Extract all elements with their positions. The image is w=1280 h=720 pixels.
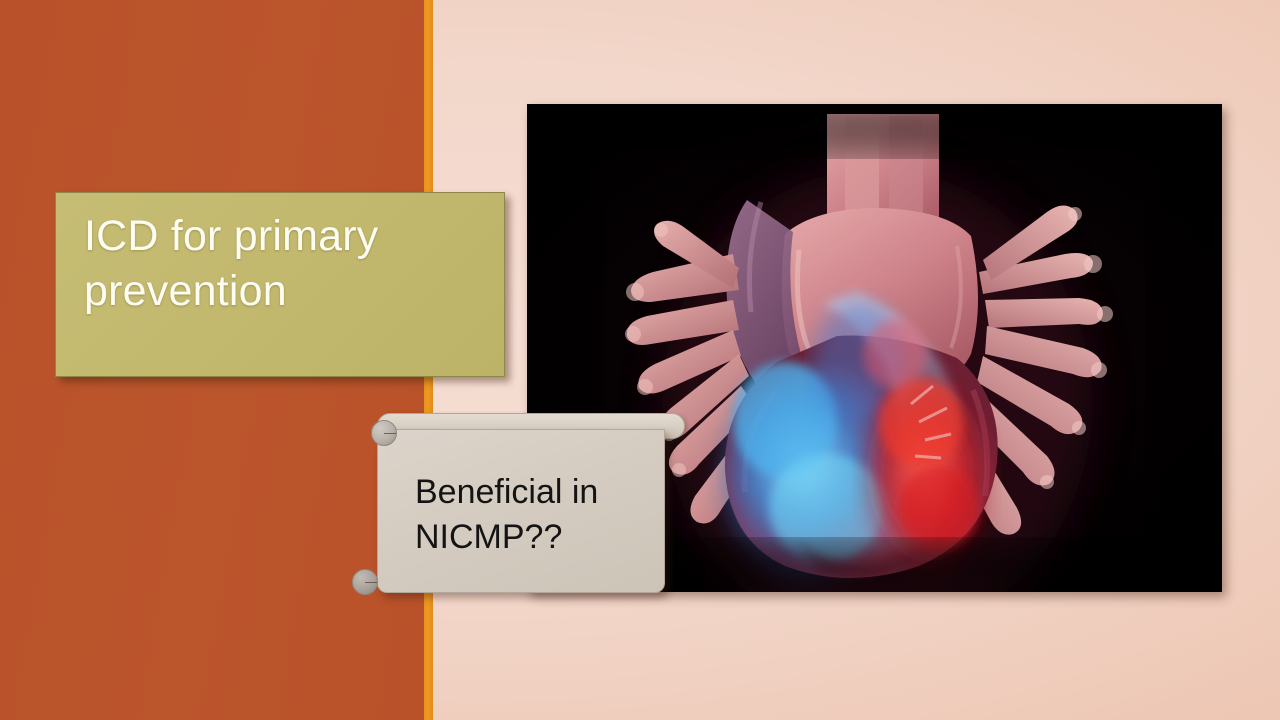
- title-box[interactable]: ICD for primary prevention: [55, 192, 505, 377]
- callout-body: Beneficial in NICMP??: [377, 429, 665, 593]
- scroll-knob-top-icon: [371, 420, 397, 446]
- slide-title: ICD for primary prevention: [84, 209, 378, 319]
- knob-slit: [384, 433, 396, 434]
- knob-slit: [365, 582, 377, 583]
- presentation-slide: ICD for primary prevention: [0, 0, 1280, 720]
- note-callout[interactable]: Beneficial in NICMP??: [363, 413, 685, 593]
- callout-text: Beneficial in NICMP??: [415, 470, 598, 560]
- scroll-knob-bottom-icon: [352, 569, 378, 595]
